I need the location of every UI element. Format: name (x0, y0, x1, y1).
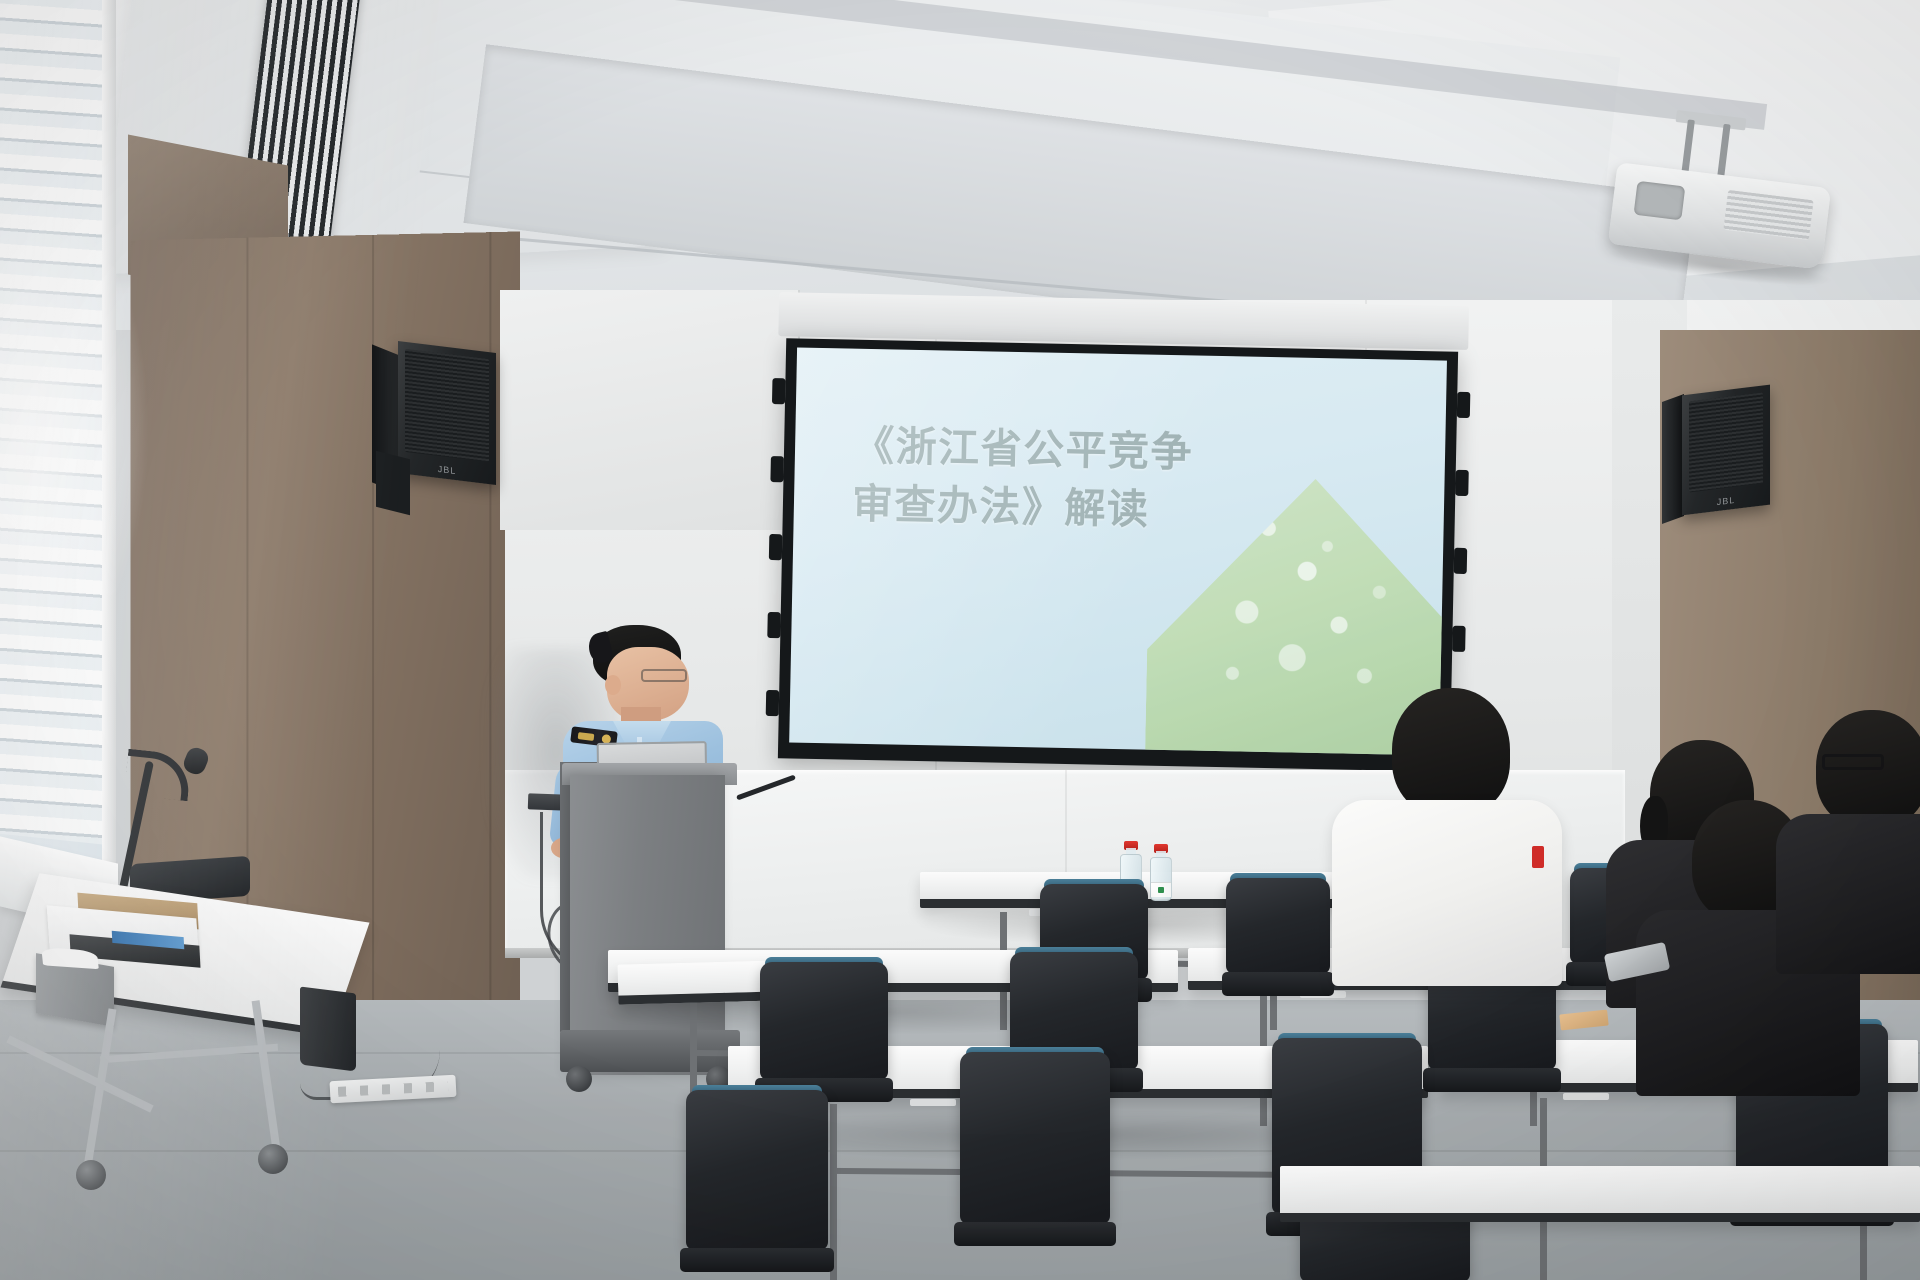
chair-back-2[interactable] (1226, 878, 1330, 974)
classroom-scene: 《浙江省公平竞争 审查办法》解读 JBL JBL (0, 0, 1920, 1280)
window-blinds[interactable] (0, 0, 110, 847)
attendee-glasses-icon (1822, 754, 1884, 770)
presenter-ear (605, 675, 621, 695)
attendee-far-right (1792, 710, 1920, 960)
attendee-shirt-logo (1532, 846, 1544, 868)
chair-front-2[interactable] (960, 1052, 1110, 1224)
podium-caster-left (566, 1066, 592, 1092)
attendee-white-shirt (1336, 688, 1556, 978)
wall-soffit (500, 290, 800, 530)
wall-speaker-right-icon: JBL (1682, 385, 1770, 516)
water-bottle-2[interactable] (1150, 845, 1172, 901)
wall-speaker-left-icon: JBL (398, 341, 496, 485)
side-desk-caster-left (76, 1160, 106, 1190)
slide-title-line-2: 审查办法》解读 (851, 475, 1312, 542)
window-frame (102, 0, 116, 920)
chair-front-1[interactable] (686, 1090, 828, 1250)
slide-title-line-1: 《浙江省公平竞争 (853, 417, 1314, 484)
table-foreground (1280, 1166, 1920, 1222)
projector-vents (1723, 190, 1813, 240)
side-desk-caster-right (258, 1144, 288, 1174)
chair-mid-1[interactable] (760, 962, 888, 1080)
presenter-glasses-icon (641, 669, 687, 682)
slide-title: 《浙江省公平竞争 审查办法》解读 (851, 417, 1313, 543)
wall-speaker-right-side (1662, 394, 1684, 524)
wall-speaker-left-bracket (376, 451, 410, 515)
window (0, 0, 110, 905)
